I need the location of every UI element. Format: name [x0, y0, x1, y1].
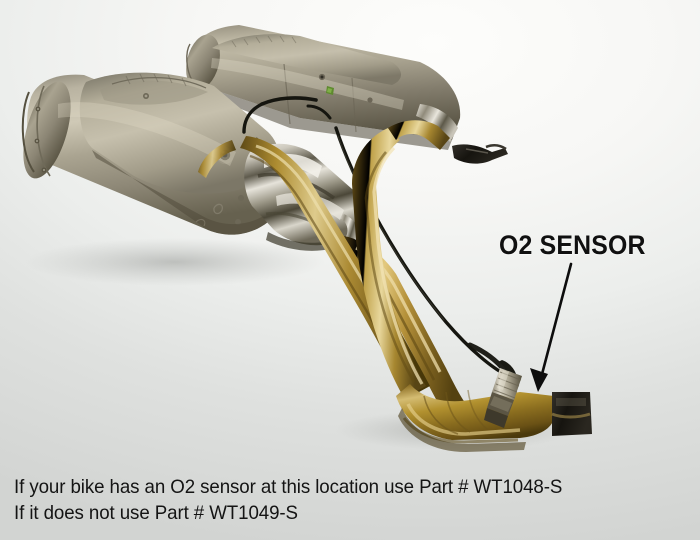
- mounting-bracket: [452, 144, 508, 163]
- exhaust-flange: [552, 392, 592, 436]
- caption-line-2: If it does not use Part # WT1049-S: [14, 500, 667, 526]
- product-photo-page: O2 SENSOR If your bike has an O2 sensor …: [0, 0, 700, 540]
- caption-line-1: If your bike has an O2 sensor at this lo…: [14, 474, 667, 500]
- callout-arrow-head: [530, 368, 548, 392]
- o2-sensor-callout-label: O2 SENSOR: [499, 230, 646, 261]
- shield-bolt: [367, 97, 372, 102]
- callout-arrow: [530, 264, 571, 392]
- shield-bolt: [238, 195, 244, 201]
- caption-block: If your bike has an O2 sensor at this lo…: [14, 474, 694, 526]
